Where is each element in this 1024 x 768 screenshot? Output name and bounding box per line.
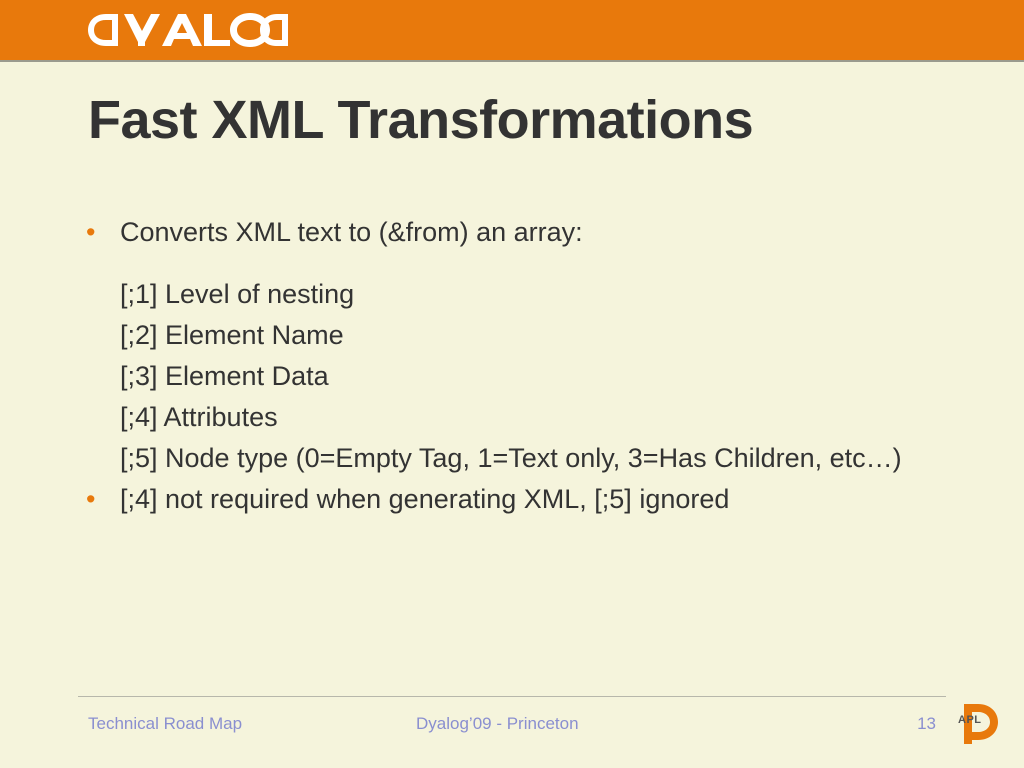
slide-body: • Converts XML text to (&from) an array:… xyxy=(78,212,958,520)
bullet-item-2-text: [;4] not required when generating XML, [… xyxy=(120,484,729,514)
bullet-item-2: • [;4] not required when generating XML,… xyxy=(78,479,958,520)
slide: Fast XML Transformations • Converts XML … xyxy=(0,0,1024,768)
footer-divider xyxy=(78,696,946,697)
bullet-item-1-text: Converts XML text to (&from) an array: xyxy=(120,217,583,247)
footer-left-text: Technical Road Map xyxy=(88,714,242,734)
footer-center-text: Dyalog’09 - Princeton xyxy=(416,714,579,734)
slide-title: Fast XML Transformations xyxy=(88,92,968,149)
body-spacer xyxy=(78,253,958,274)
column-definitions-list: [;1] Level of nesting [;2] Element Name … xyxy=(78,274,958,479)
apl-logo-label: APL xyxy=(958,714,982,726)
bullet-item-1: • Converts XML text to (&from) an array: xyxy=(78,212,958,253)
dyalog-logo xyxy=(88,11,288,49)
bullet-dot-icon: • xyxy=(86,479,95,520)
top-banner xyxy=(0,0,1024,62)
footer-page-number: 13 xyxy=(914,714,936,734)
bullet-dot-icon: • xyxy=(86,212,95,253)
